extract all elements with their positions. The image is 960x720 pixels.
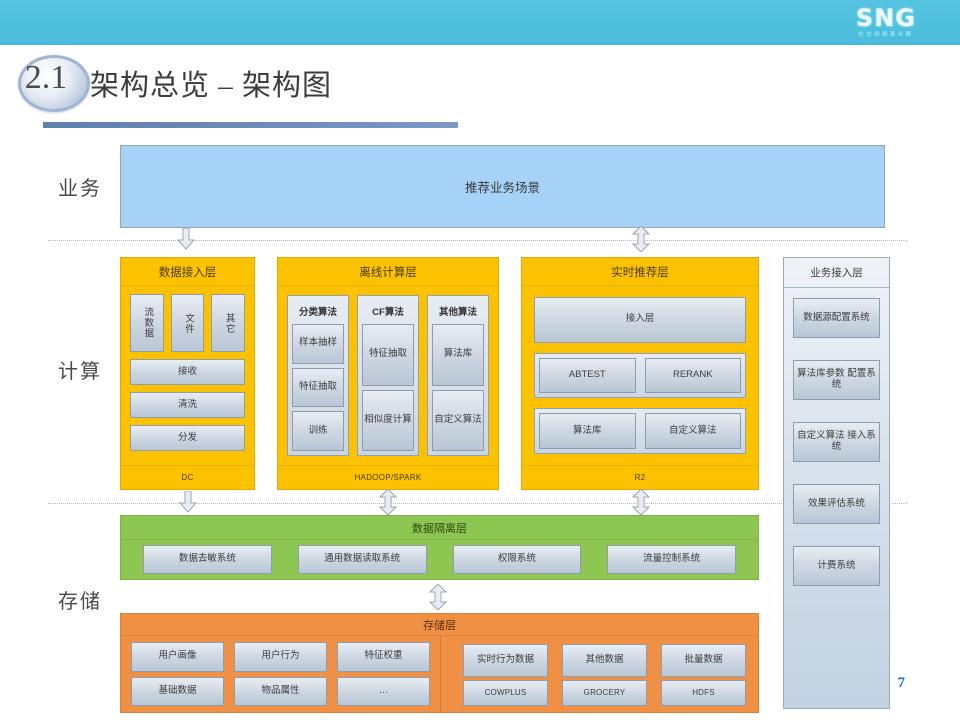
title-underline: [43, 122, 458, 128]
side-item-billing[interactable]: 计费系统: [793, 546, 880, 586]
data-isolation-layer-panel[interactable]: 数据隔离层 数据去敏系统 通用数据读取系统 权限系统 流量控制系统: [120, 515, 759, 580]
sng-logo: SNG 社交网络事业群: [856, 6, 916, 39]
offline-compute-layer-header: 离线计算层: [278, 258, 498, 286]
realtime-recommendation-layer-panel[interactable]: 实时推荐层 接入层 ABTEST RERANK 算法库 自定义算法 R2: [521, 257, 759, 490]
offline-compute-layer-footer: HADOOP/SPARK: [278, 465, 498, 489]
data-access-layer-panel[interactable]: 数据接入层 流数据 文件 其它 接收 清洗 分发 DC: [120, 257, 255, 490]
business-scenario-box[interactable]: 推荐业务场景: [120, 145, 885, 228]
storage-stack-batch-name[interactable]: 批量数据: [661, 644, 746, 677]
storage-item-user-behavior[interactable]: 用户行为: [234, 642, 327, 672]
algorithm-group-classification-header: 分类算法: [292, 300, 344, 322]
arrow-down-dal-to-isolation: [178, 491, 198, 513]
page-title: 架构总览 – 架构图: [90, 62, 332, 104]
data-isolation-layer-header: 数据隔离层: [121, 516, 758, 540]
side-item-effect-evaluation[interactable]: 效果评估系统: [793, 484, 880, 524]
realtime-row-access: 接入层: [534, 297, 746, 343]
storage-layer-header: 存储层: [121, 614, 758, 636]
algorithm-group-other-header: 其他算法: [432, 300, 484, 322]
realtime-item-abtest[interactable]: ABTEST: [539, 358, 636, 394]
classification-item-training[interactable]: 训练: [292, 411, 344, 451]
classification-item-sampling[interactable]: 样本抽样: [292, 324, 344, 364]
cf-item-feature-extract[interactable]: 特征抽取: [362, 324, 414, 386]
slide-number: 2.1: [10, 59, 82, 97]
row-label-storage: 存储: [58, 585, 102, 614]
row-label-business: 业务: [58, 172, 102, 201]
data-source-other[interactable]: 其它: [211, 294, 245, 352]
data-access-layer-footer: DC: [121, 465, 254, 489]
arrow-bidirectional-business-to-rtl: [631, 226, 651, 252]
realtime-layer-footer: R2: [522, 465, 758, 489]
data-access-step-receive[interactable]: 接收: [130, 359, 245, 385]
business-access-layer-panel[interactable]: 业务接入层 数据源配置系统 算法库参数 配置系统 自定义算法 接入系统 效果评估…: [783, 257, 890, 709]
other-item-custom-algorithm[interactable]: 自定义算法: [432, 390, 484, 452]
storage-stack-batch-engine[interactable]: HDFS: [661, 680, 746, 706]
logo-wordmark: SNG: [856, 6, 916, 30]
data-source-file[interactable]: 文件: [171, 294, 205, 352]
arrow-bidirectional-ocl-to-isolation: [378, 489, 398, 515]
arrow-down-business-to-dal: [176, 228, 196, 250]
algorithm-group-other[interactable]: 其他算法 算法库 自定义算法: [427, 295, 489, 456]
top-banner: [0, 0, 960, 45]
isolation-item-permission[interactable]: 权限系统: [453, 545, 582, 574]
algorithm-group-classification[interactable]: 分类算法 样本抽样 特征抽取 训练: [287, 295, 349, 456]
realtime-item-rerank[interactable]: RERANK: [645, 358, 742, 394]
business-scenario-label: 推荐业务场景: [465, 177, 540, 196]
realtime-layer-header: 实时推荐层: [522, 258, 758, 286]
arrow-bidirectional-isolation-to-storage: [428, 584, 448, 610]
other-item-algorithm-library[interactable]: 算法库: [432, 324, 484, 386]
data-access-step-clean[interactable]: 清洗: [130, 392, 245, 418]
divider-compute-storage: [48, 503, 908, 504]
isolation-item-flow-control[interactable]: 流量控制系统: [607, 545, 736, 574]
storage-stack-batch: 批量数据 HDFS: [661, 644, 746, 706]
storage-item-more[interactable]: …: [337, 677, 430, 707]
storage-stack-other-name[interactable]: 其他数据: [562, 644, 647, 677]
realtime-item-access-layer[interactable]: 接入层: [534, 297, 746, 343]
logo-subtitle: 社交网络事业群: [856, 33, 916, 39]
realtime-item-custom-algorithm[interactable]: 自定义算法: [645, 413, 742, 449]
isolation-item-generic-read[interactable]: 通用数据读取系统: [298, 545, 427, 574]
storage-engine-group: 实时行为数据 COWPLUS 其他数据 GROCERY 批量数据 HDFS: [441, 636, 758, 712]
arrow-bidirectional-rtl-to-isolation: [631, 489, 651, 515]
data-source-stream[interactable]: 流数据: [130, 294, 164, 352]
storage-stack-other: 其他数据 GROCERY: [562, 644, 647, 706]
storage-stack-realtime: 实时行为数据 COWPLUS: [463, 644, 548, 706]
data-access-layer-header: 数据接入层: [121, 258, 254, 286]
realtime-item-algorithm-library[interactable]: 算法库: [539, 413, 636, 449]
data-access-step-distribute[interactable]: 分发: [130, 425, 245, 451]
algorithm-group-cf-header: CF算法: [362, 300, 414, 322]
side-item-custom-algorithm-access[interactable]: 自定义算法 接入系统: [793, 422, 880, 462]
offline-compute-layer-panel[interactable]: 离线计算层 分类算法 样本抽样 特征抽取 训练 CF算法 特征抽取 相似度计算 …: [277, 257, 499, 490]
side-item-datasource-config[interactable]: 数据源配置系统: [793, 298, 880, 338]
realtime-row-algorithms: 算法库 自定义算法: [534, 408, 746, 454]
storage-stack-realtime-engine[interactable]: COWPLUS: [463, 680, 548, 706]
storage-item-feature-weight[interactable]: 特征权重: [337, 642, 430, 672]
storage-business-data-group: 用户画像 基础数据 用户行为 物品属性 特征权重 …: [121, 636, 441, 712]
classification-item-feature-extract[interactable]: 特征抽取: [292, 368, 344, 408]
storage-layer-panel[interactable]: 存储层 用户画像 基础数据 用户行为 物品属性 特征权重 … 实时行为数据 CO…: [120, 613, 759, 713]
storage-stack-realtime-name[interactable]: 实时行为数据: [463, 644, 548, 677]
algorithm-group-cf[interactable]: CF算法 特征抽取 相似度计算: [357, 295, 419, 456]
storage-stack-other-engine[interactable]: GROCERY: [562, 680, 647, 706]
isolation-item-desensitization[interactable]: 数据去敏系统: [143, 545, 272, 574]
storage-item-user-profile[interactable]: 用户画像: [131, 642, 224, 672]
row-label-compute: 计算: [58, 355, 102, 384]
storage-item-item-attribute[interactable]: 物品属性: [234, 677, 327, 707]
business-access-layer-header: 业务接入层: [784, 258, 889, 288]
cf-item-similarity[interactable]: 相似度计算: [362, 390, 414, 452]
page-number: 7: [898, 675, 906, 692]
realtime-row-experiment: ABTEST RERANK: [534, 353, 746, 399]
side-item-algorithm-param-config[interactable]: 算法库参数 配置系统: [793, 360, 880, 400]
storage-item-base-data[interactable]: 基础数据: [131, 677, 224, 707]
data-source-chip-row: 流数据 文件 其它: [130, 294, 245, 352]
